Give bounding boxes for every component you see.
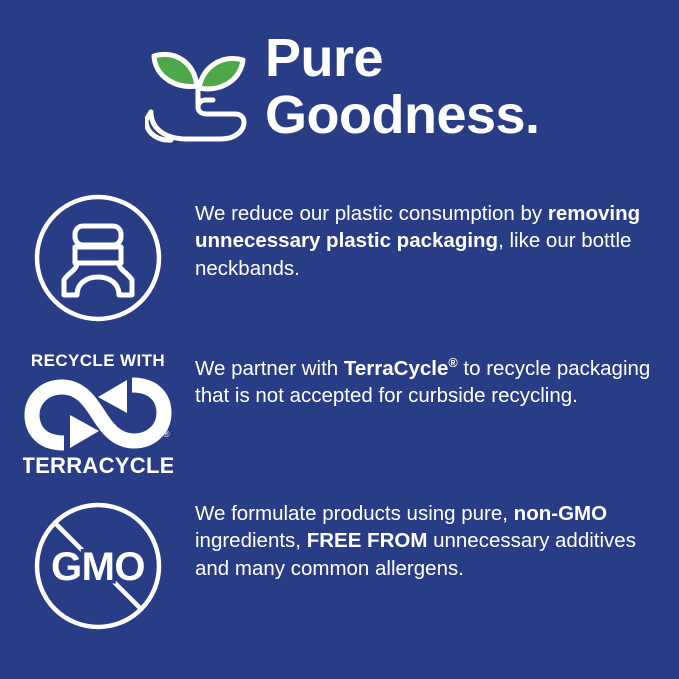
brand-header: Pure Goodness. (0, 0, 679, 175)
feature-row-non-gmo: GMO We formulate products using pure, no… (0, 492, 679, 642)
brand-title: Pure Goodness. (265, 30, 540, 144)
no-gmo-icon: GMO (30, 498, 166, 634)
feature-icon-cell: RECYCLE WITH ® TERRACYCLE (0, 345, 195, 477)
gmo-label: GMO (50, 545, 144, 589)
feature-icon-cell: GMO (0, 492, 195, 634)
terracycle-top-text: RECYCLE WITH (30, 351, 164, 370)
feature-row-terracycle: RECYCLE WITH ® TERRACYCLE We partner wit… (0, 345, 679, 485)
terracycle-logo: RECYCLE WITH ® TERRACYCLE (23, 351, 173, 477)
feature-row-plastic-reduction: We reduce our plastic consumption by rem… (0, 188, 679, 338)
feature-text-plastic-reduction: We reduce our plastic consumption by rem… (195, 188, 679, 282)
feature-text-non-gmo: We formulate products using pure, non-GM… (195, 492, 679, 582)
feature-icon-cell (0, 188, 195, 326)
bottle-neckband-circle-icon (30, 190, 166, 326)
terracycle-bottom-text: TERRACYCLE (23, 453, 173, 477)
promo-panel: Pure Goodness. We reduce our plastic con… (0, 0, 679, 679)
hand-holding-sprout-icon (145, 34, 255, 146)
registered-mark-icon: ® (163, 429, 170, 439)
feature-text-terracycle: We partner with TerraCycle® to recycle p… (195, 345, 679, 410)
